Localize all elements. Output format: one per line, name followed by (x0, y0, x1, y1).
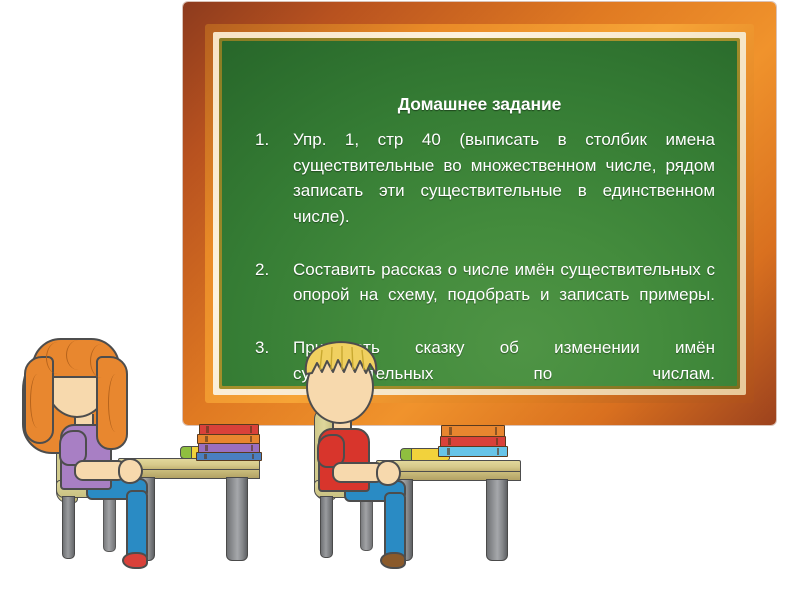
girl-hand (118, 458, 143, 484)
boy-desk-leg-right (486, 479, 508, 561)
girl-pencil-tip (180, 446, 192, 459)
boy-chair-leg-front (320, 496, 333, 558)
boy-chair-leg-back (360, 496, 373, 551)
list-item-number: 2. (255, 257, 293, 283)
boy-desk-group (290, 338, 550, 573)
chalkboard-edge: Домашнее задание 1. Упр. 1, стр 40 (выпи… (219, 38, 740, 389)
boy-pencil-tip (400, 448, 412, 461)
girl-chair-leg-front (62, 496, 75, 559)
girl-shoe (122, 552, 148, 569)
list-item-number: 1. (255, 127, 293, 153)
girl-chair-leg-back (103, 496, 116, 552)
list-item-text: Составить рассказ о числе имён существит… (293, 257, 717, 334)
list-item: 1. Упр. 1, стр 40 (выписать в столбик им… (255, 127, 717, 255)
girl-book-stack (195, 424, 265, 464)
list-item[interactable] (196, 452, 262, 461)
list-item: 2. Составить рассказ о числе имён сущест… (255, 257, 717, 334)
girl-hair-strand-4 (30, 374, 45, 428)
girl-hair-strand-5 (108, 374, 123, 432)
boy-hand (376, 460, 401, 486)
list-item-number: 3. (255, 335, 293, 361)
boy-book-stack (438, 425, 510, 463)
boy-hair-icon (302, 340, 380, 376)
page-title: Домашнее задание (222, 94, 737, 115)
list-item[interactable] (438, 446, 508, 457)
girl-hair-strand-2 (66, 340, 91, 370)
girl-hair-strand-3 (90, 344, 113, 378)
girl-desk-leg-right (226, 477, 248, 561)
boy-shoe (380, 552, 406, 569)
list-item-text: Упр. 1, стр 40 (выписать в столбик имена… (293, 127, 717, 255)
chalkboard-surface: Домашнее задание 1. Упр. 1, стр 40 (выпи… (222, 41, 737, 386)
slide-canvas: Домашнее задание 1. Упр. 1, стр 40 (выпи… (0, 0, 800, 600)
boy-hair (302, 340, 380, 381)
